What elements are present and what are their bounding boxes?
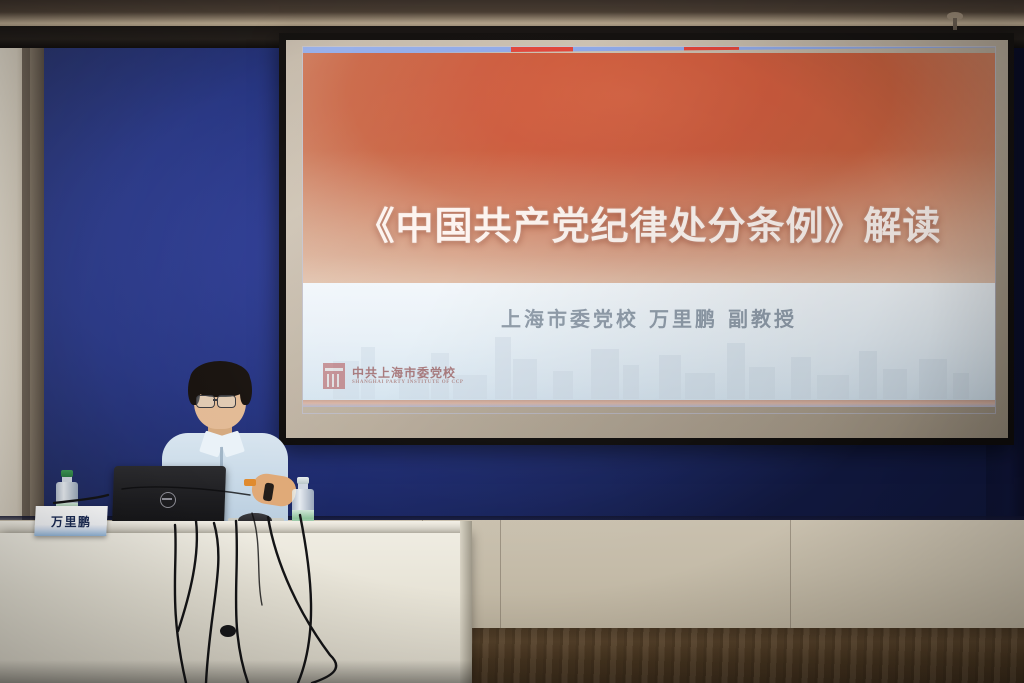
cable-grommet: [220, 625, 236, 637]
slide-bottom-bar: [303, 400, 995, 407]
institute-logo-english: SHANGHAI PARTY INSTITUTE OF CCP: [352, 380, 464, 385]
institute-logo-chinese: 中共上海市委党校: [352, 367, 464, 380]
wall-seam: [790, 520, 791, 632]
slide-title: 《中国共产党纪律处分条例》解读: [303, 195, 995, 250]
wall-seam: [500, 520, 501, 632]
slide-subtitle: 上海市委党校 万里鹏 副教授: [303, 303, 995, 332]
institute-logo-icon: [323, 363, 345, 389]
glasses-icon: [217, 395, 236, 408]
presentation-slide: 《中国共产党纪律处分条例》解读 上海市委党校 万里鹏 副教授 中共上海市委党校 …: [303, 47, 995, 413]
cable-bundle: [0, 455, 480, 683]
sprinkler-icon: [944, 12, 966, 32]
lecture-room-photo: 《中国共产党纪律处分条例》解读 上海市委党校 万里鹏 副教授 中共上海市委党校 …: [0, 0, 1024, 683]
glasses-icon: [196, 395, 215, 408]
institute-logo: 中共上海市委党校 SHANGHAI PARTY INSTITUTE OF CCP: [323, 363, 464, 389]
glasses-bridge: [213, 399, 217, 401]
presenter-hair-side-right: [240, 373, 252, 405]
